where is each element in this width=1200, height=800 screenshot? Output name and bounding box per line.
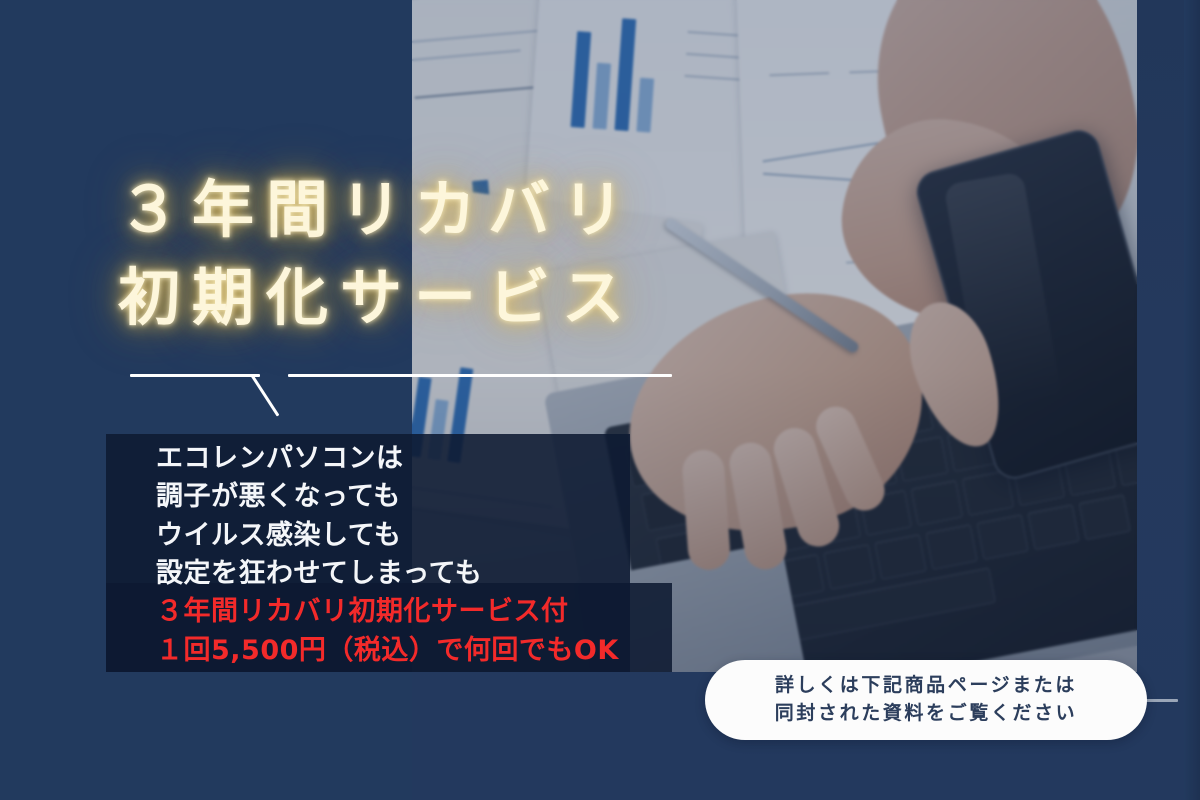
callout-text: 詳しくは下記商品ページまたは 同封された資料をご覧ください [775, 672, 1077, 727]
copy-line-price: １回5,500円（税込）で何回でもOK [156, 632, 686, 670]
callout-pill[interactable]: 詳しくは下記商品ページまたは 同封された資料をご覧ください [705, 660, 1147, 740]
bracket-rule-right [288, 374, 672, 377]
copy-line-highlight: ３年間リカバリ初期化サービス付 [156, 593, 686, 631]
bracket-rule-left [130, 374, 260, 377]
page-title: ３年間リカバリ 初期化サービス [118, 166, 878, 342]
headline-line-1: ３年間リカバリ [118, 166, 878, 254]
headline-line-2: 初期化サービス [118, 254, 878, 342]
copy-line: 設定を狂わせてしまっても [156, 555, 686, 593]
left-navy-overlay [0, 0, 412, 800]
promo-banner: ３年間リカバリ 初期化サービス エコレンパソコンは 調子が悪くなっても ウイルス… [0, 0, 1200, 800]
background-edge-right [1184, 0, 1200, 800]
copy-line: エコレンパソコンは [156, 440, 686, 478]
callout-line-1: 詳しくは下記商品ページまたは [775, 672, 1077, 700]
copy-text-block: エコレンパソコンは 調子が悪くなっても ウイルス感染しても 設定を狂わせてしまっ… [156, 440, 686, 670]
copy-line: 調子が悪くなっても [156, 478, 686, 516]
callout-line-2: 同封された資料をご覧ください [775, 700, 1077, 728]
copy-line: ウイルス感染しても [156, 517, 686, 555]
